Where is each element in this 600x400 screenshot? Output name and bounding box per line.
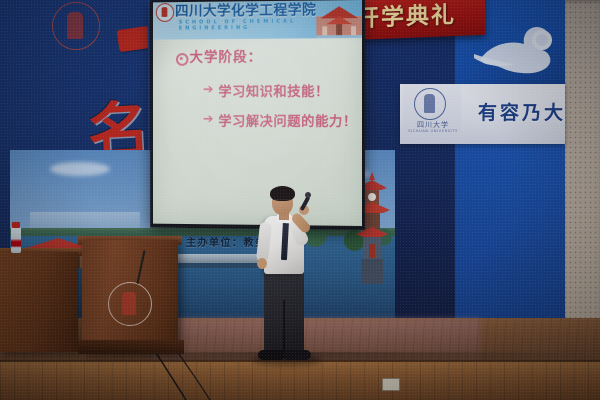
speaker-glasses-icon [273,199,291,205]
backdrop-red-placard [117,26,152,52]
slide-header-subtitle: SCHOOL OF CHEMICAL ENGINEERING [179,18,320,31]
slide-bullet-2: 学习解决问题的能力！ [218,110,362,130]
wall-motto-text: 有容乃大 [478,96,588,130]
water-bottle [11,227,21,253]
speaker-hand-left [257,258,267,269]
slide-body: 大学阶段： ➔ 学习知识和技能！ ➔ 学习解决问题的能力！ [153,38,362,226]
slide-bullet-marker-icon [176,53,189,66]
podium-base [78,340,184,354]
mural-cloud [50,162,110,176]
speaker-shoe-right [284,350,311,360]
speaker-leg-seam [283,300,285,354]
photo-scene: 四川大学 SICHUAN UNIVERSITY 有容乃大 新生开学典礼 名 学 [0,0,600,400]
podium-seal-icon [108,282,152,326]
slide-bullet-1: 学习知识和技能！ [218,80,362,100]
water-bottle-cap [12,222,20,228]
slide-arrow-icon: ➔ [203,112,214,127]
microphone-head [305,192,311,198]
backdrop-seal-icon [52,2,100,50]
slide-arrow-icon: ➔ [203,82,214,97]
projection-screen: 四川大学化学工程学院 SCHOOL OF CHEMICAL ENGINEERIN… [153,0,362,226]
slide-campus-building-icon [316,2,362,38]
plaque-name-en: SICHUAN UNIVERSITY [406,129,460,133]
slide-university-seal-icon [156,3,174,22]
side-table [0,252,78,352]
slide-heading: 大学阶段： [189,46,346,67]
university-seal-icon [414,88,446,120]
speaker-shoe-left [258,350,284,360]
